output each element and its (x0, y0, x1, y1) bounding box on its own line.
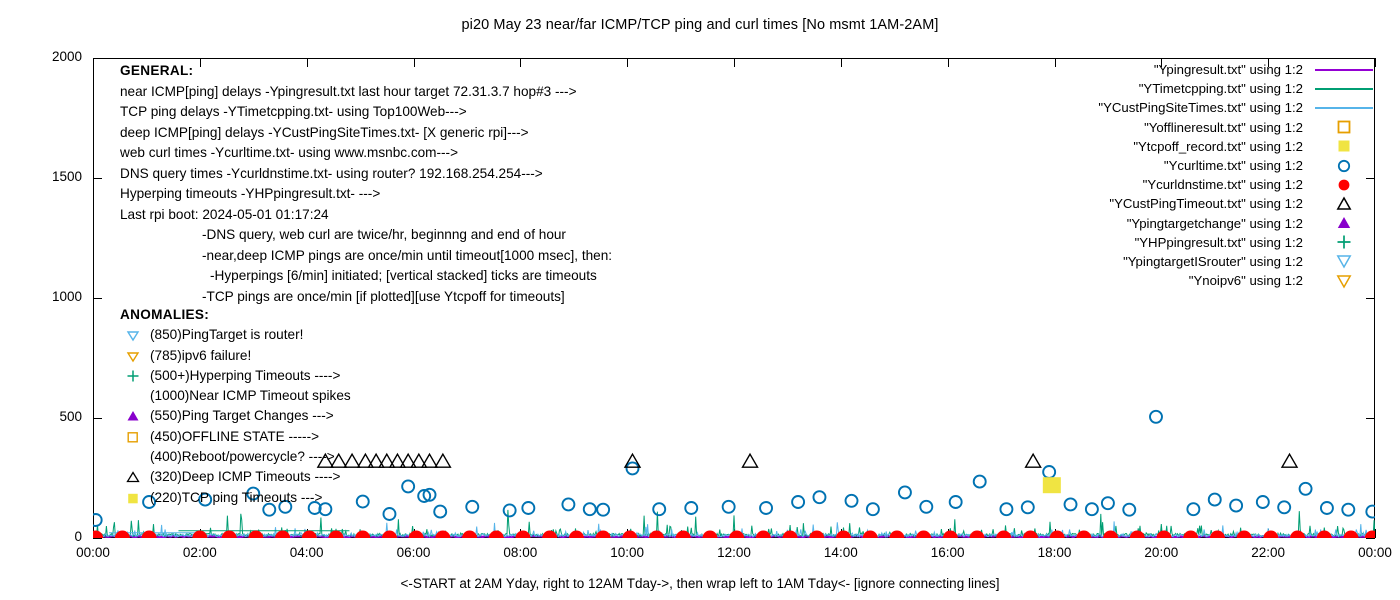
anomaly-label: (550)Ping Target Changes ---> (150, 408, 334, 423)
plus-teal-icon (126, 369, 140, 383)
line-swatch-icon (1315, 62, 1373, 78)
x-axis-title: <-START at 2AM Yday, right to 12AM Tday-… (0, 576, 1400, 591)
general-indented-line: -TCP pings are once/min [if plotted][use… (120, 287, 612, 308)
chart-page: pi20 May 23 near/far ICMP/TCP ping and c… (0, 0, 1400, 600)
general-indented-line: -near,deep ICMP pings are once/min until… (120, 246, 612, 267)
x-tick-label: 16:00 (913, 545, 983, 560)
legend-label: "YpingtargetISrouter" using 1:2 (1123, 254, 1313, 269)
legend-entry[interactable]: "Yofflineresult.txt" using 1:2 (1098, 118, 1375, 137)
anomaly-row: (1000)Near ICMP Timeout spikes (120, 386, 351, 406)
x-tick-mark-top (841, 58, 842, 67)
square-open-icon (1315, 119, 1373, 135)
x-tick-mark (200, 529, 201, 538)
x-tick-mark-top (948, 58, 949, 67)
x-tick-mark-top (93, 58, 94, 67)
circle-filled-icon (1315, 177, 1373, 193)
y-tick-mark-right (1366, 418, 1375, 419)
general-line: near ICMP[ping] delays -Ypingresult.txt … (120, 82, 612, 103)
anomaly-row: (550)Ping Target Changes ---> (120, 406, 351, 426)
anomaly-row: (785)ipv6 failure! (120, 346, 351, 366)
legend-key (1313, 234, 1375, 250)
legend-label: "Ycurldnstime.txt" using 1:2 (1143, 177, 1313, 192)
anomalies-heading: ANOMALIES: (120, 305, 351, 325)
anomaly-label: (785)ipv6 failure! (150, 348, 251, 363)
general-line: TCP ping delays -YTimetcpping.txt- using… (120, 102, 612, 123)
y-tick-mark-right (1366, 298, 1375, 299)
general-indented-line: -Hyperpings [6/min] initiated; [vertical… (120, 266, 612, 287)
y-tick-mark (93, 538, 102, 539)
anomalies-block: ANOMALIES: (850)PingTarget is router!(78… (120, 305, 351, 508)
y-tick-mark-right (1366, 58, 1375, 59)
general-heading: GENERAL: (120, 61, 612, 82)
legend-entry[interactable]: "YCustPingTimeout.txt" using 1:2 (1098, 194, 1375, 213)
y-tick-mark (93, 298, 102, 299)
y-tick-mark (93, 58, 102, 59)
down-triangle-open-orange-icon (126, 349, 140, 363)
anomaly-label: (400)Reboot/powercycle? ----> (150, 449, 335, 464)
x-tick-mark-top (1055, 58, 1056, 67)
anomaly-label: (220)TCP ping Timeouts ---> (150, 490, 322, 505)
legend-entry[interactable]: "Ycurldnstime.txt" using 1:2 (1098, 175, 1375, 194)
general-line: Last rpi boot: 2024-05-01 01:17:24 (120, 205, 612, 226)
general-indented-lines: -DNS query, web curl are twice/hr, begin… (120, 225, 612, 307)
x-tick-label: 00:00 (1340, 545, 1400, 560)
x-tick-mark (841, 529, 842, 538)
x-tick-mark (1268, 529, 1269, 538)
triangle-open-icon (1315, 196, 1373, 212)
x-tick-mark (627, 529, 628, 538)
x-tick-mark (1055, 529, 1056, 538)
anomaly-label: (320)Deep ICMP Timeouts ----> (150, 469, 341, 484)
line-swatch-icon (1315, 81, 1373, 97)
x-tick-mark (948, 529, 949, 538)
anomaly-glyph (120, 325, 146, 342)
legend-entry[interactable]: "YHPpingresult.txt" using 1:2 (1098, 233, 1375, 252)
x-tick-label: 06:00 (379, 545, 449, 560)
general-notes-block: GENERAL: near ICMP[ping] delays -Ypingre… (120, 61, 612, 307)
x-tick-label: 10:00 (592, 545, 662, 560)
anomaly-label: (1000)Near ICMP Timeout spikes (150, 388, 351, 403)
square-filled-yellow-icon (126, 491, 140, 505)
y-axis-title: msec (0, 256, 3, 288)
legend-key (1313, 138, 1375, 154)
square-filled-icon (1315, 138, 1373, 154)
x-tick-mark-top (1375, 58, 1376, 67)
x-tick-mark (734, 529, 735, 538)
legend-entry[interactable]: "Ypingtargetchange" using 1:2 (1098, 214, 1375, 233)
legend-label: "Ytcpoff_record.txt" using 1:2 (1133, 139, 1313, 154)
anomaly-row: (500+)Hyperping Timeouts ----> (120, 366, 351, 386)
legend-entry[interactable]: "Ynoipv6" using 1:2 (1098, 271, 1375, 290)
triangle-filled-purple-icon (126, 409, 140, 423)
legend-key (1313, 62, 1375, 78)
anomaly-label: (500+)Hyperping Timeouts ----> (150, 368, 340, 383)
legend-entry[interactable]: "Ycurltime.txt" using 1:2 (1098, 156, 1375, 175)
x-tick-label: 22:00 (1233, 545, 1303, 560)
square-open-orange-icon (126, 430, 140, 444)
anomalies-rows: (850)PingTarget is router!(785)ipv6 fail… (120, 325, 351, 508)
legend-label: "Ynoipv6" using 1:2 (1189, 273, 1313, 288)
page-title: pi20 May 23 near/far ICMP/TCP ping and c… (0, 17, 1400, 33)
anomaly-label: (450)OFFLINE STATE -----> (150, 429, 319, 444)
legend-entry[interactable]: "Ytcpoff_record.txt" using 1:2 (1098, 137, 1375, 156)
y-tick-label: 1500 (22, 169, 82, 184)
x-tick-mark (1375, 529, 1376, 538)
legend-entry[interactable]: "YpingtargetISrouter" using 1:2 (1098, 252, 1375, 271)
anomaly-row: (220)TCP ping Timeouts ---> (120, 488, 351, 508)
y-tick-label: 0 (22, 529, 82, 544)
anomaly-glyph (120, 366, 146, 383)
legend-entry[interactable]: "YTimetcpping.txt" using 1:2 (1098, 79, 1375, 98)
anomaly-glyph (120, 488, 146, 505)
anomaly-label: (850)PingTarget is router! (150, 327, 303, 342)
x-tick-mark (414, 529, 415, 538)
legend: "Ypingresult.txt" using 1:2"YTimetcpping… (1098, 60, 1375, 290)
x-tick-label: 20:00 (1126, 545, 1196, 560)
anomaly-glyph (120, 427, 146, 444)
x-tick-mark (1161, 529, 1162, 538)
anomaly-row: (850)PingTarget is router! (120, 325, 351, 345)
legend-key (1313, 215, 1375, 231)
x-tick-label: 14:00 (806, 545, 876, 560)
legend-label: "YCustPingTimeout.txt" using 1:2 (1109, 196, 1313, 211)
x-tick-mark (93, 529, 94, 538)
x-tick-label: 02:00 (165, 545, 235, 560)
legend-key (1313, 253, 1375, 269)
down-triangle-open-lightblue-icon (126, 328, 140, 342)
legend-entry[interactable]: "Ypingresult.txt" using 1:2 (1098, 60, 1375, 79)
y-tick-label: 1000 (22, 289, 82, 304)
down-triangle-open-icon (1315, 253, 1373, 269)
anomaly-glyph (120, 406, 146, 423)
legend-entry[interactable]: "YCustPingSiteTimes.txt" using 1:2 (1098, 98, 1375, 117)
anomaly-row: (400)Reboot/powercycle? ----> (120, 447, 351, 467)
y-tick-label: 500 (22, 409, 82, 424)
legend-label: "YHPpingresult.txt" using 1:2 (1135, 235, 1313, 250)
legend-key (1313, 81, 1375, 97)
x-tick-mark (307, 529, 308, 538)
general-line: web curl times -Ycurltime.txt- using www… (120, 143, 612, 164)
legend-key (1313, 119, 1375, 135)
y-tick-mark (93, 178, 102, 179)
y-tick-label: 2000 (22, 49, 82, 64)
line-swatch-icon (1315, 100, 1373, 116)
x-tick-mark-top (734, 58, 735, 67)
x-tick-label: 18:00 (1020, 545, 1090, 560)
circle-open-icon (1315, 158, 1373, 174)
general-lines: near ICMP[ping] delays -Ypingresult.txt … (120, 82, 612, 226)
x-tick-label: 12:00 (699, 545, 769, 560)
x-tick-label: 08:00 (485, 545, 555, 560)
legend-key (1313, 158, 1375, 174)
anomaly-glyph (120, 467, 146, 484)
general-line: Hyperping timeouts -YHPpingresult.txt- -… (120, 184, 612, 205)
legend-key (1313, 273, 1375, 289)
x-tick-mark (520, 529, 521, 538)
triangle-open-black-icon (126, 470, 140, 484)
legend-key (1313, 196, 1375, 212)
legend-label: "YCustPingSiteTimes.txt" using 1:2 (1098, 100, 1313, 115)
y-tick-mark (93, 418, 102, 419)
anomaly-glyph (120, 346, 146, 363)
down-triangle-open-icon (1315, 273, 1373, 289)
x-tick-label: 00:00 (58, 545, 128, 560)
plus-icon (1315, 234, 1373, 250)
legend-label: "YTimetcpping.txt" using 1:2 (1139, 81, 1313, 96)
general-line: deep ICMP[ping] delays -YCustPingSiteTim… (120, 123, 612, 144)
legend-label: "Yofflineresult.txt" using 1:2 (1144, 120, 1313, 135)
legend-key (1313, 100, 1375, 116)
anomaly-row: (320)Deep ICMP Timeouts ----> (120, 467, 351, 487)
x-tick-label: 04:00 (272, 545, 342, 560)
anomaly-row: (450)OFFLINE STATE -----> (120, 427, 351, 447)
general-line: DNS query times -Ycurldnstime.txt- using… (120, 164, 612, 185)
x-tick-mark-top (627, 58, 628, 67)
legend-label: "Ypingtargetchange" using 1:2 (1127, 216, 1313, 231)
legend-label: "Ypingresult.txt" using 1:2 (1154, 62, 1313, 77)
general-indented-line: -DNS query, web curl are twice/hr, begin… (120, 225, 612, 246)
legend-key (1313, 177, 1375, 193)
triangle-filled-icon (1315, 215, 1373, 231)
legend-label: "Ycurltime.txt" using 1:2 (1164, 158, 1313, 173)
y-tick-mark-right (1366, 538, 1375, 539)
